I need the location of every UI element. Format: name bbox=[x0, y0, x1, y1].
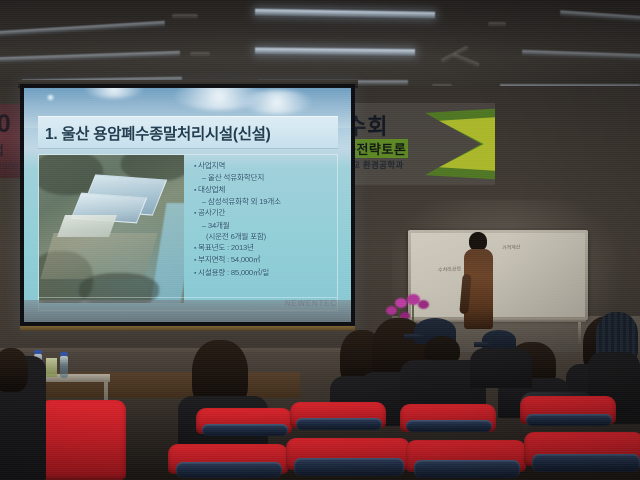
list-item: – 삼성석유화학 외 19개소 bbox=[194, 196, 334, 207]
presenter-at-whiteboard bbox=[460, 232, 496, 328]
tree-cluster bbox=[79, 273, 159, 303]
slide-title-text: 1. 울산 용암폐수종말처리시설(신설) bbox=[45, 122, 271, 144]
list-item: 대상업체 bbox=[194, 184, 334, 196]
whiteboard-note: 수처리공정 bbox=[438, 265, 461, 273]
screen-lower-band bbox=[24, 300, 351, 322]
list-item: 사업지역 bbox=[194, 160, 334, 172]
auditorium-seat-rail bbox=[296, 418, 382, 430]
banner-left-year: 2009 bbox=[0, 161, 19, 171]
auditorium-seat-rail bbox=[176, 462, 282, 478]
slide-aerial-photo bbox=[39, 155, 184, 303]
banner-left-korean: 업 bbox=[0, 140, 4, 159]
slide-bullet-list: 사업지역 – 울산 석유화학단지 대상업체 – 삼성석유화학 외 19개소 공사… bbox=[190, 157, 336, 303]
list-item: 목표년도 : 2013년 bbox=[194, 242, 334, 254]
list-item: (시운전 6개월 포함) bbox=[194, 231, 334, 242]
projected-slide: 1. 울산 용암폐수종말처리시설(신설) 사업지역 – 울산 석유화학단지 대상… bbox=[24, 88, 351, 322]
list-item: 공사기간 bbox=[194, 207, 334, 219]
auditorium-seat-rail bbox=[406, 420, 492, 432]
list-item: – 울산 석유화학단지 bbox=[194, 172, 334, 183]
banner-swoosh-yellow-icon bbox=[439, 115, 495, 173]
auditorium-seat bbox=[40, 400, 126, 480]
auditorium-seat-rail bbox=[294, 458, 404, 476]
lecture-hall-photo: 00 업 2009 수회 공전략토론 학교 환경공학과 1. 울산 용암폐수종말… bbox=[0, 0, 640, 480]
juice-carton bbox=[46, 358, 57, 377]
water-bottle bbox=[60, 356, 68, 378]
baseball-cap-brim bbox=[404, 334, 424, 339]
baseball-cap bbox=[482, 330, 516, 350]
audience-member-hair bbox=[0, 348, 28, 392]
projection-screen: 1. 울산 용암폐수종말처리시설(신설) 사업지역 – 울산 석유화학단지 대상… bbox=[20, 84, 355, 328]
ceiling-vent bbox=[172, 14, 198, 19]
banner-left-number: 00 bbox=[0, 110, 10, 139]
slide-footer-rule bbox=[38, 297, 337, 298]
bottle-cap bbox=[60, 352, 68, 356]
whiteboard-leg bbox=[578, 322, 581, 346]
auditorium-seat-rail bbox=[202, 424, 288, 436]
plant-building bbox=[57, 215, 117, 237]
projection-screen-weight-bar bbox=[20, 326, 355, 331]
ceiling-vent bbox=[190, 52, 210, 57]
ceiling-vent bbox=[488, 22, 506, 27]
baseball-cap-brim bbox=[474, 342, 490, 347]
cloud-shape-icon bbox=[242, 90, 312, 114]
auditorium-seat-rail bbox=[414, 460, 520, 478]
list-item: 부지면적 : 54,000㎡ bbox=[194, 254, 334, 266]
auditorium-seat-rail bbox=[532, 454, 640, 472]
bottle-cap bbox=[34, 350, 42, 354]
auditorium-seat-rail bbox=[526, 414, 612, 426]
slide-title-bar: 1. 울산 용암폐수종말처리시설(신설) bbox=[38, 116, 338, 149]
projector-hotspot bbox=[46, 94, 55, 101]
orchid-bloom bbox=[395, 298, 407, 308]
orchid-bloom bbox=[418, 300, 429, 309]
whiteboard-note: 가격계산 bbox=[502, 244, 521, 252]
whiteboard-surface bbox=[411, 233, 585, 317]
orchid-bloom bbox=[386, 306, 397, 315]
banner-center: 수회 공전략토론 학교 환경공학과 bbox=[340, 103, 495, 185]
list-item: 시설용량 : 85,000㎥/일 bbox=[194, 267, 334, 279]
list-item: – 34개월 bbox=[194, 220, 334, 231]
audience-member-shoulders bbox=[470, 348, 532, 388]
whiteboard: 가격계산 수처리공정 bbox=[408, 230, 588, 320]
plant-grounds bbox=[40, 233, 157, 279]
